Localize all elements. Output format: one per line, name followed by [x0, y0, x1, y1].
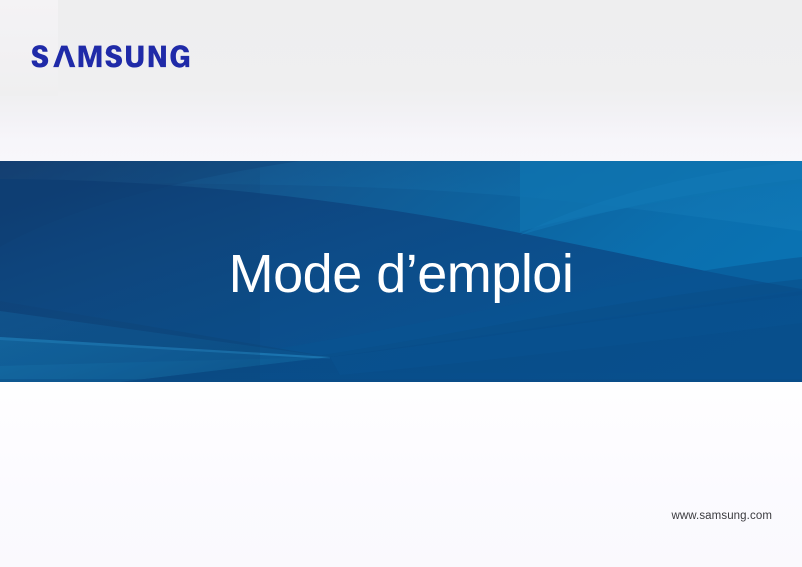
hero-banner	[0, 161, 802, 382]
samsung-wordmark-logo	[30, 44, 190, 70]
document-page: Mode d’emploi www.samsung.com	[0, 0, 802, 567]
site-url-link[interactable]: www.samsung.com	[671, 510, 772, 522]
page-header	[0, 0, 802, 161]
footer-area	[0, 382, 802, 567]
